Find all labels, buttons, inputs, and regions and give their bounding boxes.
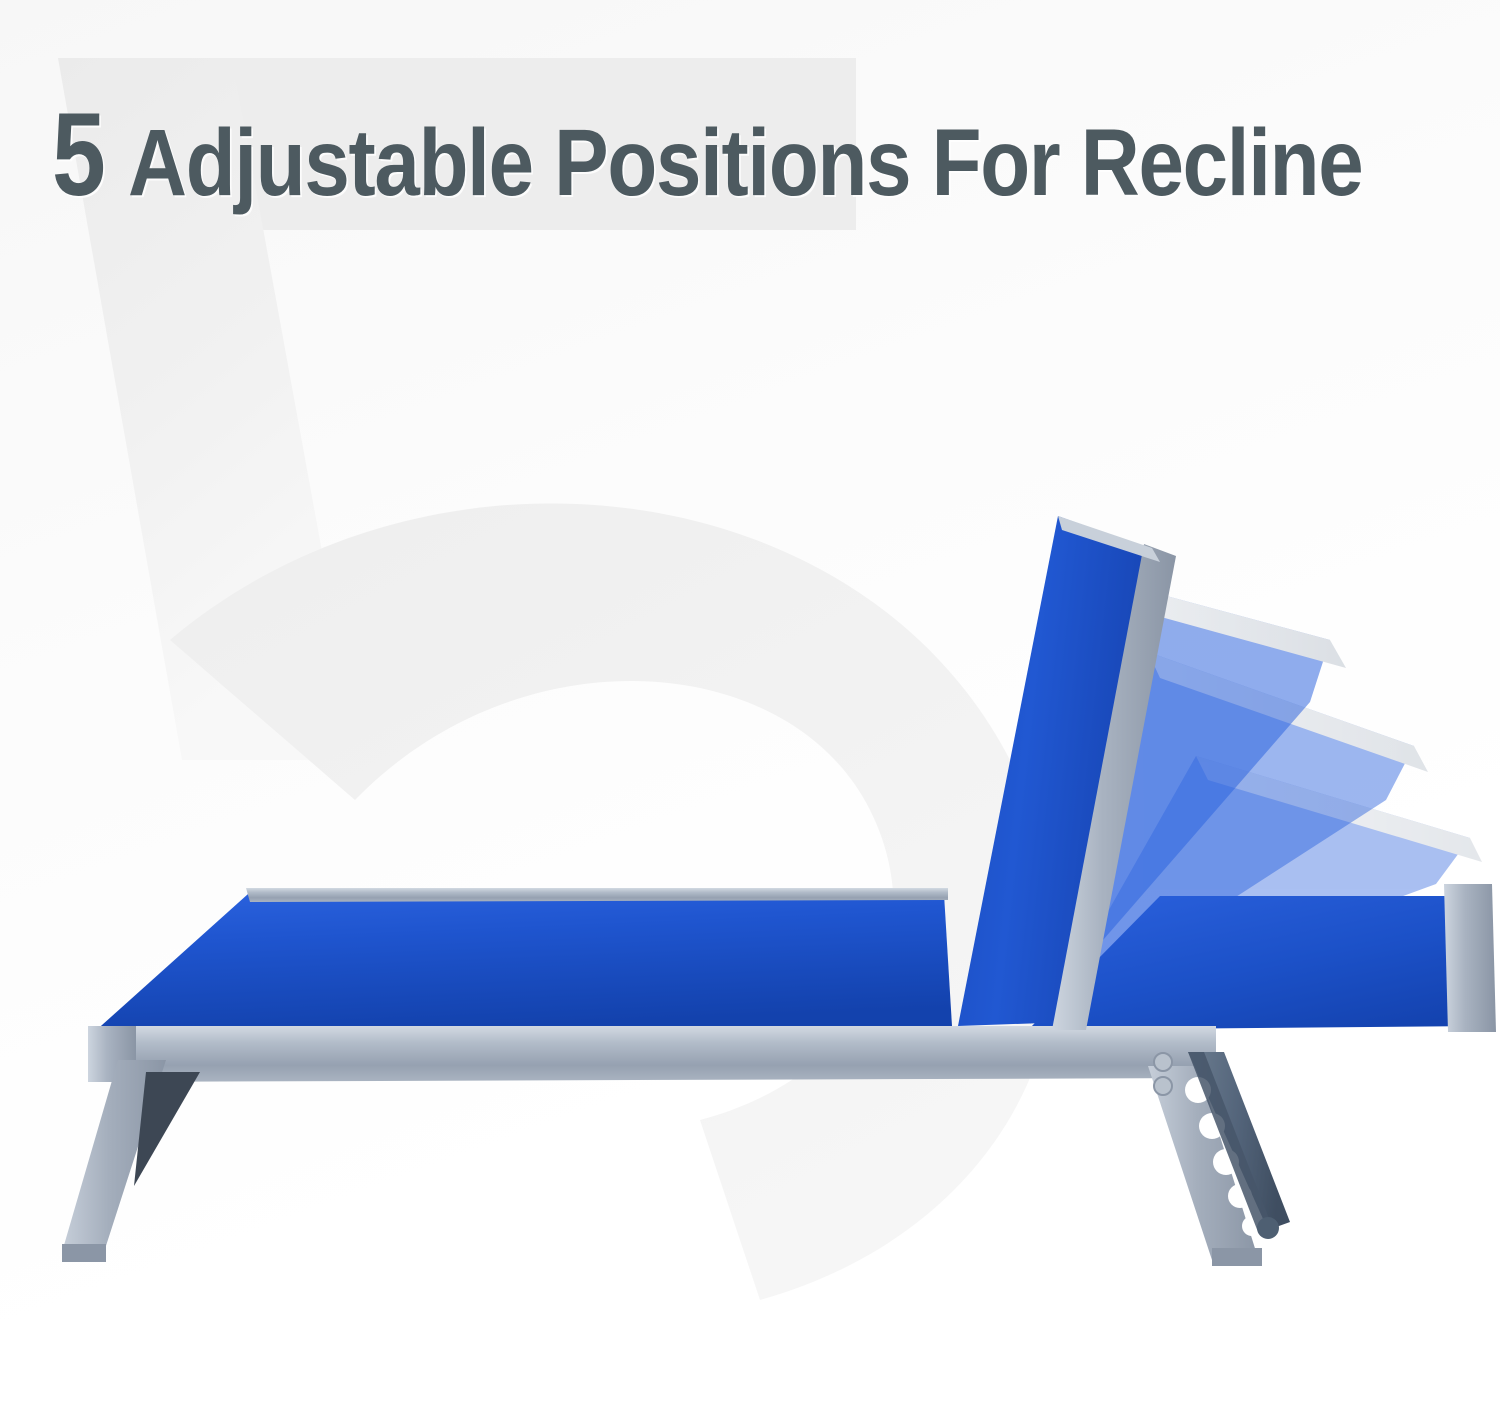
ratchet-bar-endcap — [1257, 1217, 1279, 1239]
seat-panel — [92, 894, 952, 1034]
backrest-rail-5 — [1444, 884, 1496, 1032]
seat-top-rail — [246, 888, 948, 902]
front-leg — [62, 1060, 200, 1262]
rear-leg-assembly — [1148, 1052, 1290, 1266]
pivot-rivet-bottom — [1154, 1077, 1172, 1095]
headline-number: 5 — [52, 96, 104, 214]
product-feature-image: 5 Adjustable Positions For Recline — [0, 0, 1500, 1420]
page-title: 5 Adjustable Positions For Recline — [52, 96, 1500, 214]
pivot-rivet-top — [1154, 1053, 1172, 1071]
seat-front-rail — [88, 1026, 1216, 1082]
front-leg-foot — [62, 1244, 106, 1262]
headline-text: Adjustable Positions For Recline — [128, 116, 1362, 211]
rear-leg-foot — [1212, 1248, 1262, 1266]
